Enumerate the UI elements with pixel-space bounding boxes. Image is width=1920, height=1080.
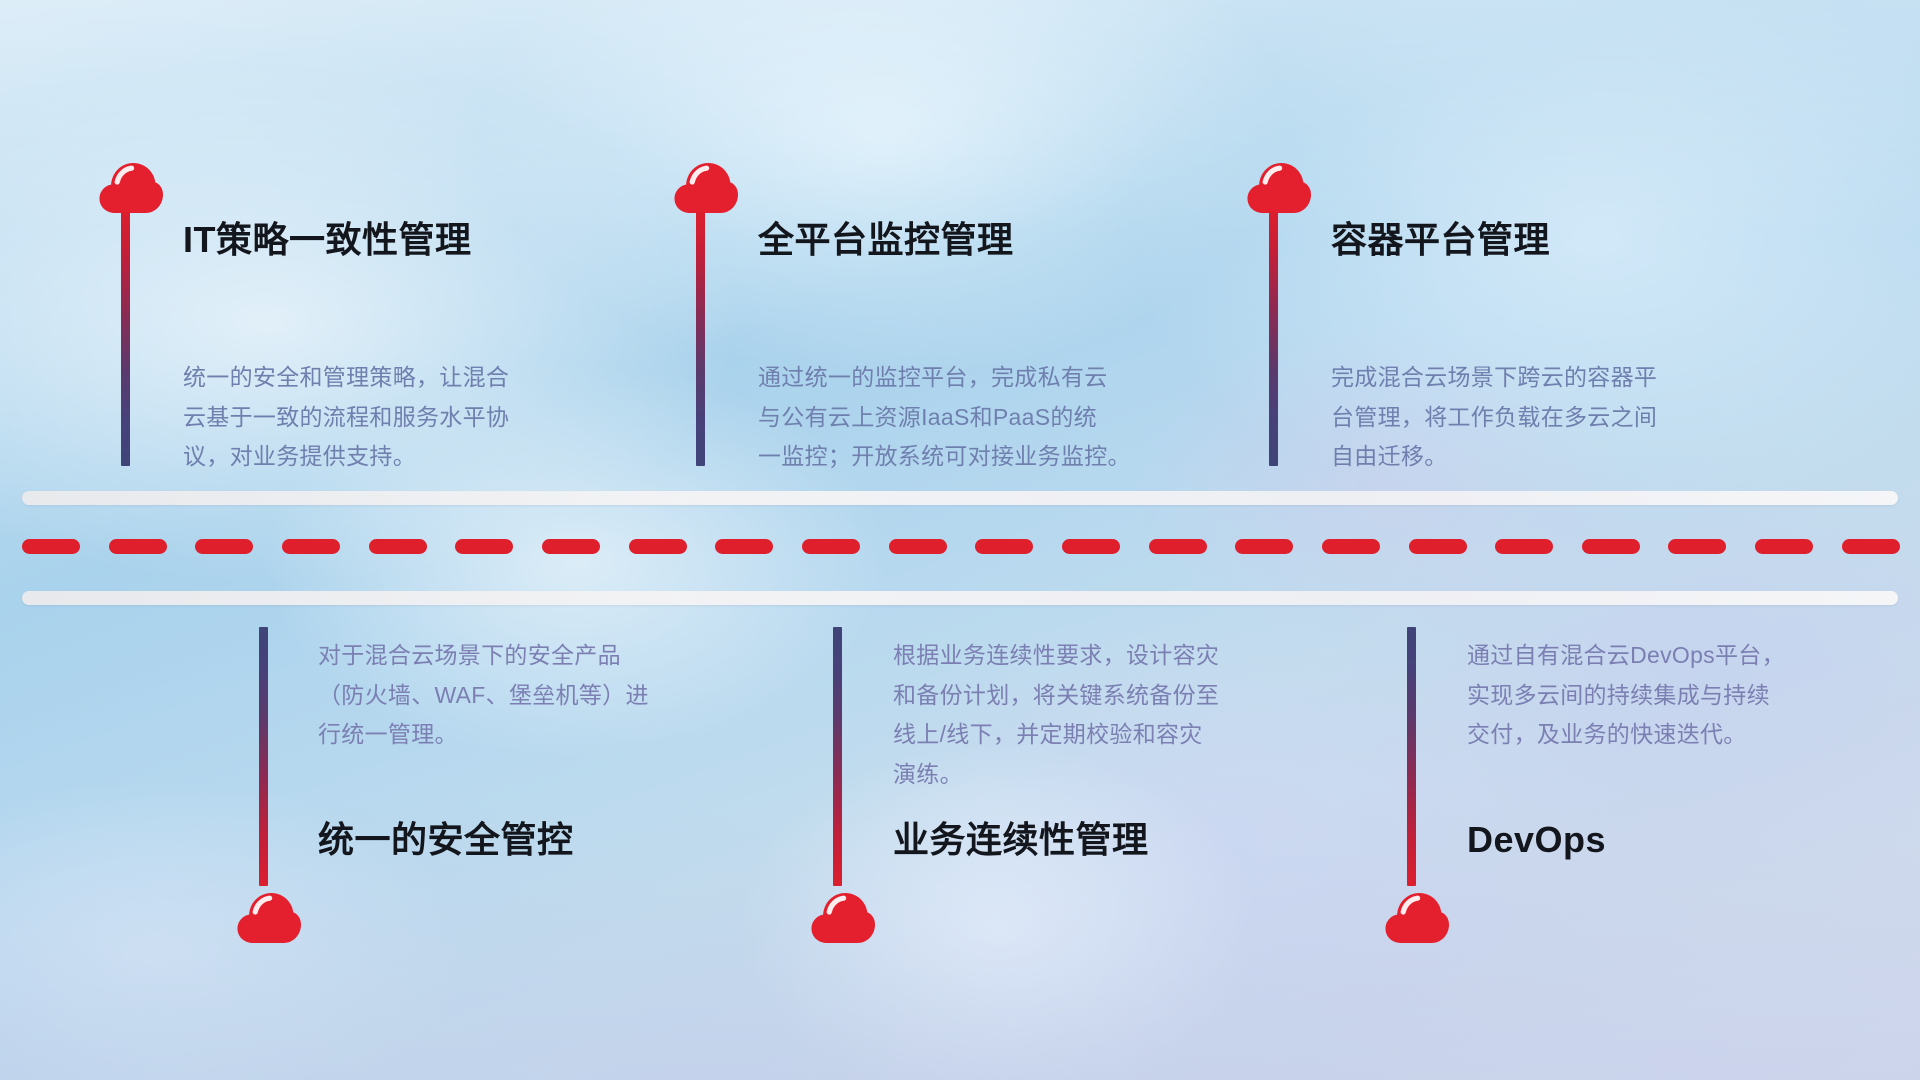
divider-dash <box>1409 539 1467 554</box>
connector-stem-bottom-1 <box>259 627 268 886</box>
cloud-pin-bottom-2 <box>810 891 876 945</box>
divider-dash <box>975 539 1033 554</box>
divider-dash <box>195 539 253 554</box>
center-divider <box>0 480 1920 610</box>
divider-dash <box>1495 539 1553 554</box>
cloud-icon <box>673 161 739 215</box>
divider-dash <box>369 539 427 554</box>
divider-dash <box>802 539 860 554</box>
connector-stem-top-3 <box>1269 212 1278 466</box>
divider-dash <box>22 539 80 554</box>
column-body-text: 通过统一的监控平台，完成私有云 与公有云上资源IaaS和PaaS的统 一监控；开… <box>758 358 1208 477</box>
cloud-pin-top-3 <box>1246 161 1312 215</box>
divider-dash <box>715 539 773 554</box>
divider-dashed-line <box>22 539 1900 554</box>
column-body-text: 统一的安全和管理策略，让混合 云基于一致的流程和服务水平协 议，对业务提供支持。 <box>183 358 615 477</box>
divider-dash <box>1582 539 1640 554</box>
cloud-pin-bottom-3 <box>1384 891 1450 945</box>
cloud-icon <box>1246 161 1312 215</box>
column-body-text: 对于混合云场景下的安全产品 （防火墙、WAF、堡垒机等）进 行统一管理。 <box>318 636 758 755</box>
divider-dash <box>455 539 513 554</box>
column-title: 全平台监控管理 <box>758 220 1014 260</box>
cloud-icon <box>810 891 876 945</box>
cloud-pin-top-1 <box>98 161 164 215</box>
divider-dash <box>109 539 167 554</box>
cloud-icon <box>98 161 164 215</box>
column-body-text: 通过自有混合云DevOps平台， 实现多云间的持续集成与持续 交付，及业务的快速… <box>1467 636 1897 755</box>
column-title: 统一的安全管控 <box>318 820 574 860</box>
column-title: 容器平台管理 <box>1331 220 1550 260</box>
connector-stem-bottom-3 <box>1407 627 1416 886</box>
column-title: DevOps <box>1467 820 1606 860</box>
infographic-canvas: IT策略一致性管理 统一的安全和管理策略，让混合 云基于一致的流程和服务水平协 … <box>0 0 1920 1080</box>
cloud-pin-bottom-1 <box>236 891 302 945</box>
divider-dash <box>1755 539 1813 554</box>
divider-dash <box>542 539 600 554</box>
column-body-text: 根据业务连续性要求，设计容灾 和备份计划，将关键系统备份至 线上/线下，并定期校… <box>893 636 1333 794</box>
divider-dash <box>629 539 687 554</box>
column-title: IT策略一致性管理 <box>183 220 472 260</box>
divider-dash <box>1235 539 1293 554</box>
connector-stem-top-1 <box>121 212 130 466</box>
divider-dash <box>1149 539 1207 554</box>
divider-dash <box>1842 539 1900 554</box>
cloud-pin-top-2 <box>673 161 739 215</box>
divider-rail-bottom <box>22 591 1898 605</box>
divider-dash <box>1062 539 1120 554</box>
connector-stem-bottom-2 <box>833 627 842 886</box>
divider-dash <box>889 539 947 554</box>
divider-rail-top <box>22 491 1898 505</box>
cloud-icon <box>1384 891 1450 945</box>
divider-dash <box>282 539 340 554</box>
connector-stem-top-2 <box>696 212 705 466</box>
divider-dash <box>1668 539 1726 554</box>
cloud-icon <box>236 891 302 945</box>
divider-dash <box>1322 539 1380 554</box>
column-title: 业务连续性管理 <box>893 820 1149 860</box>
column-body-text: 完成混合云场景下跨云的容器平 台管理，将工作负载在多云之间 自由迁移。 <box>1331 358 1763 477</box>
